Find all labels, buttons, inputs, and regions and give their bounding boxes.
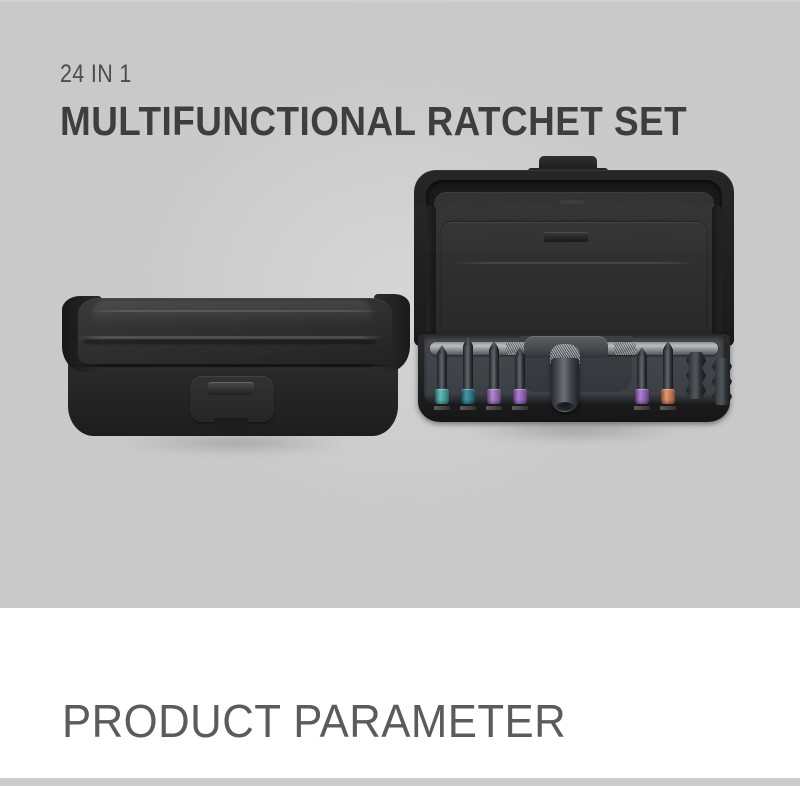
hex-socket-segment xyxy=(686,352,706,369)
bit-orange-3 xyxy=(712,358,732,404)
top-rule xyxy=(0,0,800,2)
bit-color-collar xyxy=(461,389,475,404)
extension-bar-knurl-right xyxy=(614,342,636,355)
bit-shank xyxy=(489,348,499,389)
base-latch-receptacle xyxy=(544,232,588,242)
closed-case-highlight xyxy=(92,300,372,326)
bit-size-label xyxy=(460,406,476,410)
bit-color-collar xyxy=(661,389,675,404)
bit-shank xyxy=(637,354,647,389)
hex-socket-segment xyxy=(712,373,732,390)
closed-case-ridge-shadow xyxy=(84,340,376,344)
bit-size-label xyxy=(634,406,650,410)
bit-purple-3 xyxy=(634,354,650,404)
bit-shank xyxy=(463,344,473,389)
bit-color-collar xyxy=(435,389,449,404)
section-title: PRODUCT PARAMETER xyxy=(62,694,566,748)
base-texture-overlay xyxy=(408,204,720,252)
eyebrow-label: 24 IN 1 xyxy=(60,60,132,89)
closed-case-seam xyxy=(72,364,396,367)
bit-size-label xyxy=(486,406,502,410)
bottom-divider-strip xyxy=(0,778,800,786)
bit-orange-1 xyxy=(660,348,676,404)
hex-socket-segment xyxy=(686,367,706,384)
closed-tool-case xyxy=(62,290,410,460)
hex-socket-segment xyxy=(712,388,732,405)
hero-product-panel: 24 IN 1 MULTIFUNCTIONAL RATCHET SET xyxy=(0,0,800,608)
bit-teal-2 xyxy=(460,344,476,404)
bit-purple-2 xyxy=(512,354,528,404)
product-parameter-section: PRODUCT PARAMETER xyxy=(0,608,800,786)
page-title: MULTIFUNCTIONAL RATCHET SET xyxy=(60,98,687,145)
bit-shank xyxy=(663,348,673,389)
closed-case-latch-tab xyxy=(214,418,248,432)
bit-color-collar xyxy=(513,389,527,404)
bit-color-collar xyxy=(635,389,649,404)
bit-color-collar xyxy=(487,389,501,404)
bit-teal-1 xyxy=(434,352,450,404)
bit-size-label xyxy=(512,406,528,410)
bit-size-label xyxy=(434,406,450,410)
bit-shank xyxy=(515,354,525,389)
lid-chamfer-line xyxy=(452,262,696,264)
bit-purple-light xyxy=(486,348,502,404)
bit-shank xyxy=(437,352,447,389)
bit-size-label xyxy=(660,406,676,410)
bit-orange-2 xyxy=(686,352,706,404)
closed-case-ridge xyxy=(76,336,384,339)
closed-case-latch-clip xyxy=(208,382,254,395)
ratchet-handle-tip xyxy=(556,402,574,411)
hex-socket-segment xyxy=(712,358,732,375)
open-tool-case xyxy=(408,166,740,450)
hex-socket-segment xyxy=(686,382,706,399)
